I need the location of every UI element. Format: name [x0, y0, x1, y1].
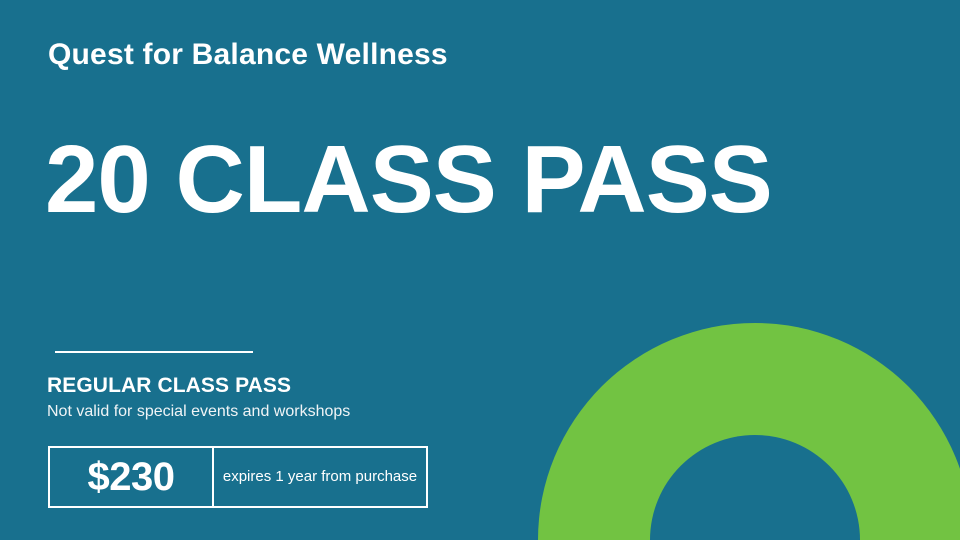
pass-type-label: REGULAR CLASS PASS — [47, 374, 291, 398]
green-ring-icon — [538, 323, 960, 540]
price-amount-cell: $230 — [50, 448, 214, 506]
divider-rule — [55, 351, 253, 353]
page-title: 20 CLASS PASS — [45, 132, 772, 228]
green-ring-inner-hole — [650, 435, 860, 540]
pass-restriction-note: Not valid for special events and worksho… — [47, 403, 350, 421]
price-box: $230 expires 1 year from purchase — [48, 446, 428, 508]
price-terms-cell: expires 1 year from purchase — [214, 448, 426, 506]
brand-title: Quest for Balance Wellness — [48, 38, 448, 72]
promo-slide: Quest for Balance Wellness 20 CLASS PASS… — [0, 0, 960, 540]
price-terms: expires 1 year from purchase — [223, 468, 417, 487]
price-amount: $230 — [88, 457, 175, 497]
